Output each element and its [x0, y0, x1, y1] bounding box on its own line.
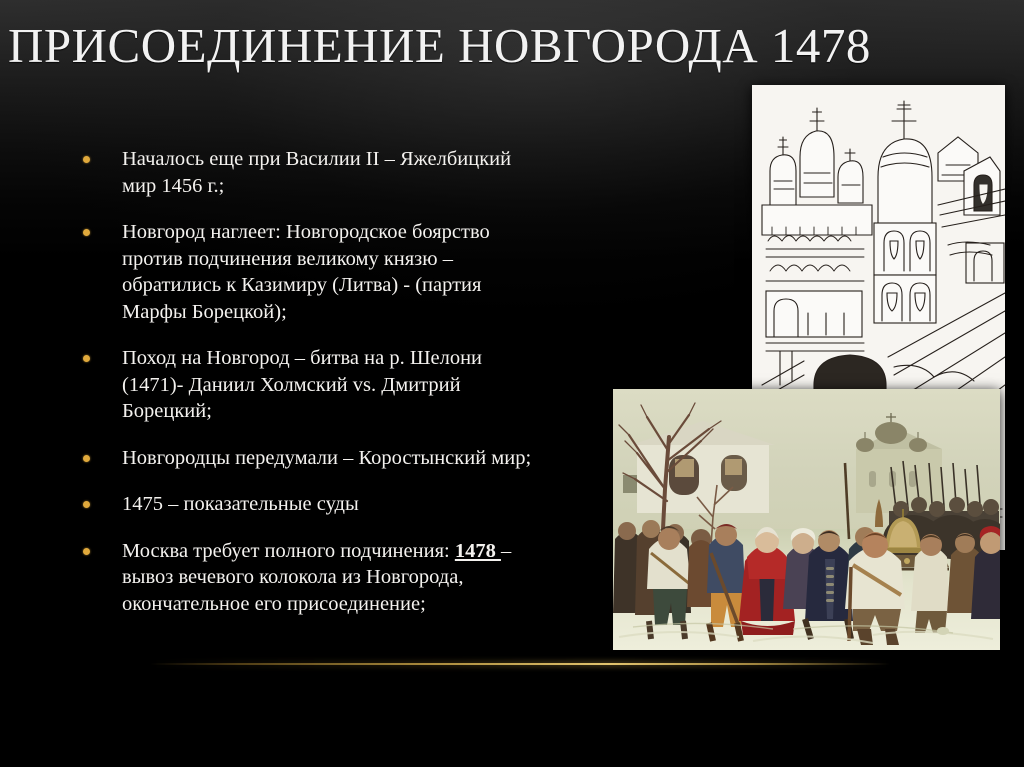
list-item: Новгород наглеет: Новгородское боярство …: [72, 219, 542, 325]
bullet-dot-icon: [83, 156, 90, 163]
list-item: Москва требует полного подчинения: 1478 …: [72, 538, 542, 618]
list-item-text: 1475 – показательные суды: [122, 491, 542, 518]
page-title: Присоединение Новгорода 1478: [8, 18, 1008, 74]
presentation-slide: Присоединение Новгорода 1478 Началось ещ…: [0, 0, 1024, 767]
list-item: Новгородцы передумали – Коростынский мир…: [72, 445, 542, 472]
list-item-text: Новгород наглеет: Новгородское боярство …: [122, 219, 542, 325]
list-item: Началось еще при Василии II – Яжелбицкий…: [72, 146, 542, 199]
list-item-text: Началось еще при Василии II – Яжелбицкий…: [122, 146, 542, 199]
list-item-text-before: Москва требует полного подчинения:: [122, 540, 455, 562]
bullet-list: Началось еще при Василии II – Яжелбицкий…: [72, 146, 542, 617]
list-item-text: Москва требует полного подчинения: 1478 …: [122, 538, 542, 618]
list-item-text: Поход на Новгород – битва на р. Шелони (…: [122, 345, 542, 425]
list-item: Поход на Новгород – битва на р. Шелони (…: [72, 345, 542, 425]
bullet-dot-icon: [83, 455, 90, 462]
list-item: 1475 – показательные суды: [72, 491, 542, 518]
bullet-dot-icon: [83, 355, 90, 362]
gold-accent-rule: [150, 663, 890, 665]
highlighted-year: 1478: [455, 540, 501, 562]
veche-bell-painting-image: [613, 389, 1000, 650]
list-item-text: Новгородцы передумали – Коростынский мир…: [122, 445, 542, 472]
bullet-dot-icon: [83, 229, 90, 236]
bullet-dot-icon: [83, 501, 90, 508]
bullet-dot-icon: [83, 548, 90, 555]
